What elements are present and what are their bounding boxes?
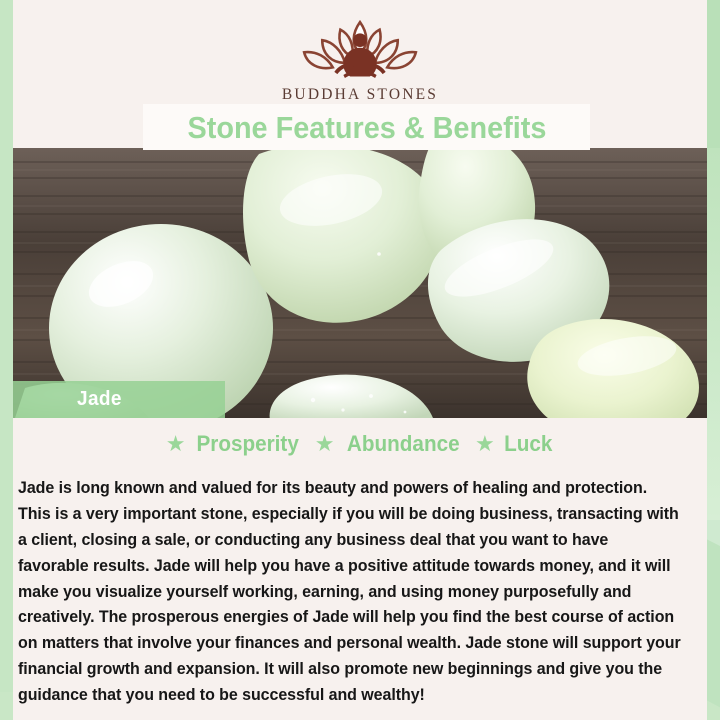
brand-name: BUDDHA STONES	[282, 86, 438, 104]
star-icon: ★	[315, 433, 335, 455]
stone-photo	[13, 148, 707, 418]
benefit-label: Abundance	[346, 433, 459, 456]
benefit-label: Luck	[504, 433, 552, 456]
lotus-meditation-icon	[284, 10, 436, 84]
stone-benefits-poster: BUDDHA STONES Stone Features & Benefits	[0, 0, 720, 720]
benefit-item-abundance: ★ Abundance	[315, 433, 464, 456]
benefit-item-prosperity: ★ Prosperity	[166, 433, 304, 456]
stone-name-label: Jade	[77, 388, 122, 411]
stone-description: Jade is long known and valued for its be…	[18, 476, 683, 708]
stone-name-badge: Jade	[13, 381, 225, 418]
benefit-label: Prosperity	[197, 433, 299, 456]
star-icon: ★	[166, 433, 186, 455]
stone-photo-graphic	[13, 148, 707, 418]
benefit-item-luck: ★ Luck	[475, 433, 554, 456]
frame-left-band	[0, 0, 14, 720]
star-icon: ★	[475, 433, 495, 455]
brand-header: BUDDHA STONES	[13, 0, 707, 112]
benefits-row: ★ Prosperity ★ Abundance ★ Luck	[13, 428, 707, 460]
page-title-band: Stone Features & Benefits	[143, 104, 590, 150]
page-title: Stone Features & Benefits	[187, 112, 546, 143]
brand-logo: BUDDHA STONES	[13, 10, 707, 104]
